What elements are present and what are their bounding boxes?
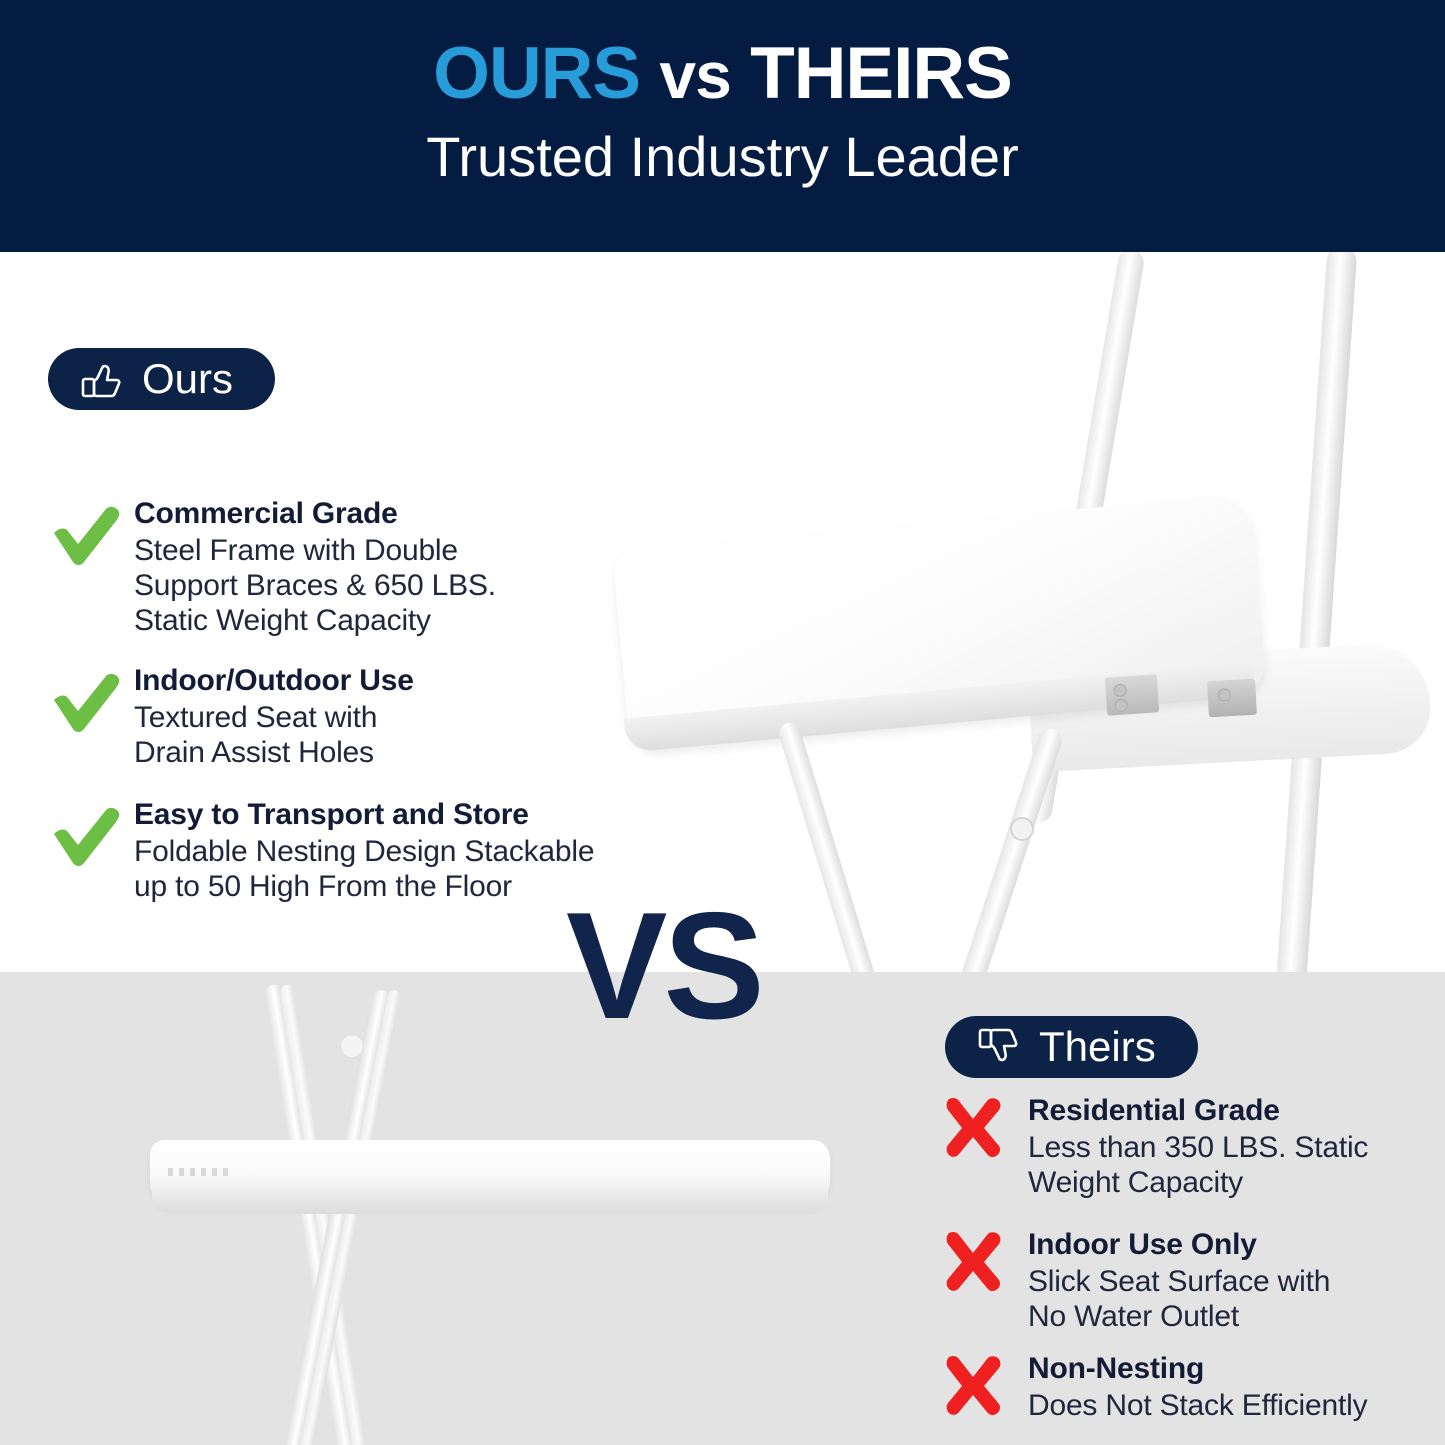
list-item-body: Indoor/Outdoor Use Textured Seat with Dr…: [134, 662, 414, 770]
chair-front-leg-2: [949, 726, 1065, 972]
page-title: OURS vs THEIRS: [0, 36, 1445, 113]
theirs-pill: Theirs: [945, 1016, 1198, 1078]
feature-description: Slick Seat Surface with No Water Outlet: [1028, 1264, 1330, 1335]
cross-icon: [938, 1226, 1028, 1296]
feature-description: Less than 350 LBS. Static Weight Capacit…: [1028, 1130, 1368, 1201]
feature-title: Easy to Transport and Store: [134, 798, 594, 832]
feature-title: Residential Grade: [1028, 1094, 1368, 1128]
ours-pill-label: Ours: [142, 358, 233, 400]
feature-title: Commercial Grade: [134, 497, 496, 531]
cross-icon: [938, 1092, 1028, 1162]
chair-back-leg-2: [1272, 252, 1357, 972]
cross-icon: [938, 1350, 1028, 1420]
chair-front-leg: [776, 720, 882, 972]
list-item: Indoor Use Only Slick Seat Surface with …: [938, 1226, 1330, 1334]
page-subtitle: Trusted Industry Leader: [0, 126, 1445, 188]
theirs-chair-photo: [0, 972, 900, 1445]
chair-hinge-knob: [340, 1034, 364, 1058]
chair-rivet: [1114, 698, 1128, 712]
check-icon: [48, 796, 134, 874]
feature-description: Steel Frame with Double Support Braces &…: [134, 533, 496, 639]
chair-rivet: [1113, 683, 1127, 697]
chair-bracket-right: [1207, 679, 1257, 717]
check-icon: [48, 662, 134, 740]
list-item-body: Residential Grade Less than 350 LBS. Sta…: [1028, 1092, 1368, 1200]
title-ours: OURS: [433, 33, 640, 114]
ours-pill: Ours: [48, 348, 275, 410]
list-item: Easy to Transport and Store Foldable Nes…: [48, 796, 594, 904]
list-item-body: Easy to Transport and Store Foldable Nes…: [134, 796, 594, 904]
feature-description: Foldable Nesting Design Stackable up to …: [134, 834, 594, 905]
list-item-body: Commercial Grade Steel Frame with Double…: [134, 495, 496, 639]
feature-title: Non-Nesting: [1028, 1352, 1367, 1386]
check-icon: [48, 495, 134, 573]
vs-divider-label: VS: [566, 890, 761, 1042]
list-item: Non-Nesting Does Not Stack Efficiently: [938, 1350, 1367, 1423]
thumbs-down-icon: [975, 1023, 1023, 1071]
list-item-body: Indoor Use Only Slick Seat Surface with …: [1028, 1226, 1330, 1334]
list-item: Residential Grade Less than 350 LBS. Sta…: [938, 1092, 1368, 1200]
chair-bracket-left: [1105, 674, 1160, 716]
comparison-infographic: OURS vs THEIRS Trusted Industry Leader: [0, 0, 1445, 1445]
feature-title: Indoor Use Only: [1028, 1228, 1330, 1262]
feature-description: Textured Seat with Drain Assist Holes: [134, 700, 414, 771]
theirs-pill-label: Theirs: [1039, 1026, 1156, 1068]
header-banner: OURS vs THEIRS Trusted Industry Leader: [0, 0, 1445, 252]
chair-rivet: [1217, 688, 1231, 702]
thumbs-up-icon: [78, 355, 126, 403]
feature-description: Does Not Stack Efficiently: [1028, 1388, 1367, 1423]
title-theirs: THEIRS: [750, 33, 1012, 114]
chair-pivot-bolt: [1010, 817, 1034, 841]
ours-chair-photo: [600, 252, 1445, 972]
list-item: Commercial Grade Steel Frame with Double…: [48, 495, 496, 639]
chair-thin-seat-edge: [152, 1186, 828, 1214]
list-item-body: Non-Nesting Does Not Stack Efficiently: [1028, 1350, 1367, 1423]
chair-vent-slots: [168, 1168, 230, 1176]
feature-title: Indoor/Outdoor Use: [134, 664, 414, 698]
list-item: Indoor/Outdoor Use Textured Seat with Dr…: [48, 662, 414, 770]
title-vs: vs: [659, 38, 730, 112]
